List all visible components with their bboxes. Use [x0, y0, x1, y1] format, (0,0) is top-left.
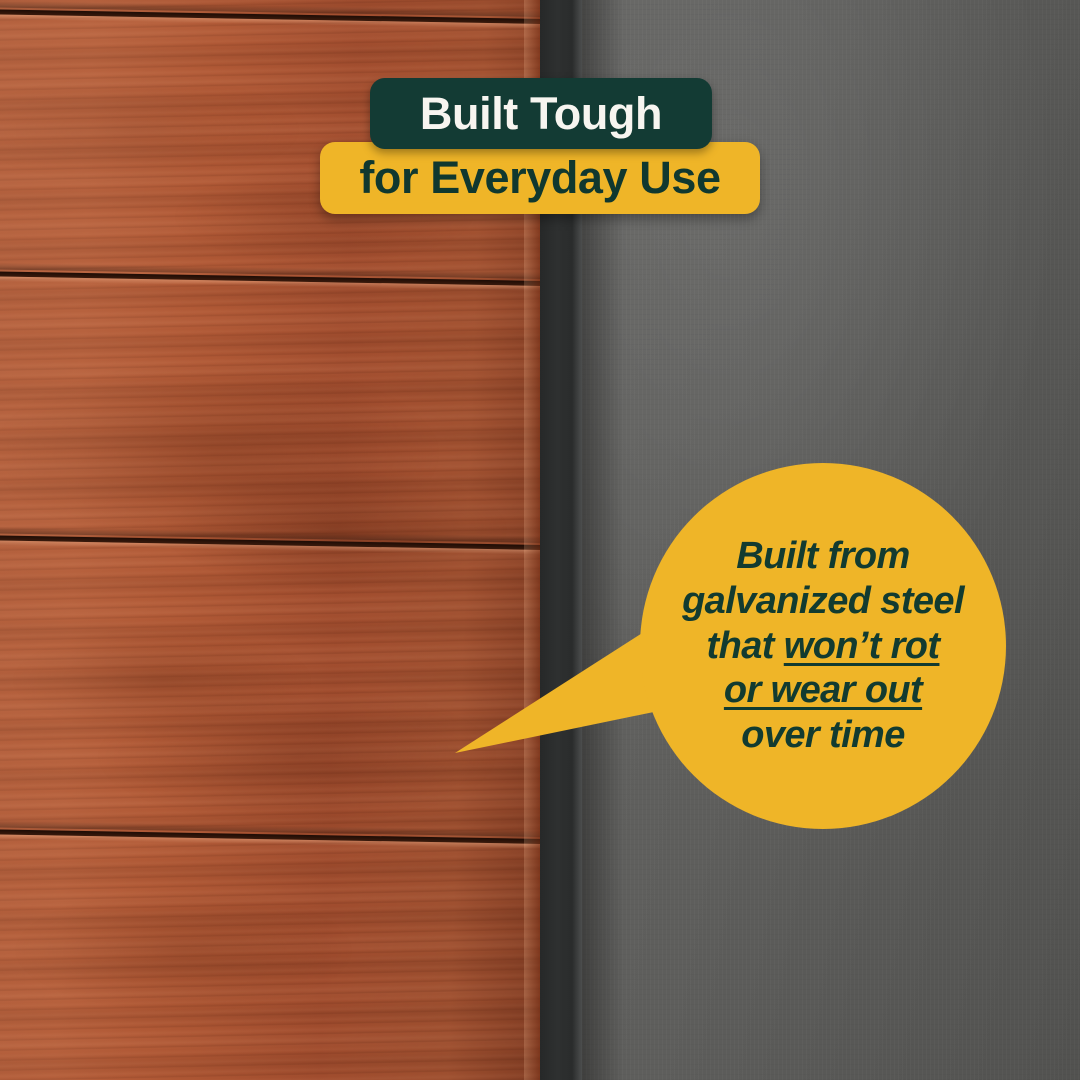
callout-line-3-emphasis: won’t rot	[784, 625, 940, 667]
callout-line-3-plain: that	[707, 625, 784, 667]
callout-line-2: galvanized steel	[658, 579, 988, 624]
callout-line-3: that won’t rot	[658, 624, 988, 669]
callout-line-1: Built from	[658, 534, 988, 579]
callout-line-5: over time	[658, 713, 988, 758]
promotional-image-canvas: Built Tough for Everyday Use Built from …	[0, 0, 1080, 1080]
callout-line-4-emphasis: or wear out	[658, 668, 988, 713]
callout-bubble: Built from galvanized steel that won’t r…	[640, 463, 1006, 829]
callout-text: Built from galvanized steel that won’t r…	[658, 534, 988, 758]
callout-group: Built from galvanized steel that won’t r…	[0, 0, 1080, 1080]
